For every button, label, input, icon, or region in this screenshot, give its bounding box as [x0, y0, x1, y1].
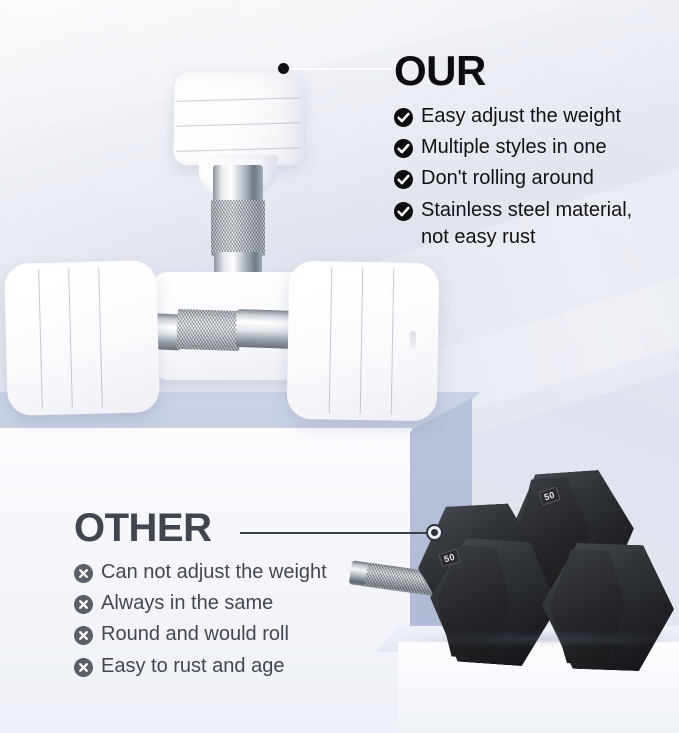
other-heading: OTHER [74, 508, 394, 548]
cross-circle-icon [74, 658, 93, 677]
other-feature-item: Can not adjust the weight [74, 559, 394, 586]
our-feature-list: Easy adjust the weight Multiple styles i… [394, 103, 674, 251]
check-circle-icon [394, 108, 413, 127]
our-feature-item: Multiple styles in one [394, 134, 674, 161]
our-feature-text: Stainless steel material, [421, 197, 632, 224]
our-feature-item: Easy adjust the weight [394, 103, 674, 130]
other-feature-text: Easy to rust and age [101, 653, 284, 680]
check-circle-icon [394, 170, 413, 189]
other-feature-list: Can not adjust the weight Always in the … [74, 559, 394, 680]
infographic-canvas: 50 50 OUR Easy adjust the [0, 0, 679, 733]
our-feature-text: Easy adjust the weight [421, 103, 621, 130]
other-callout-dot [428, 526, 441, 539]
our-heading: OUR [394, 50, 674, 92]
our-feature-text: Multiple styles in one [421, 134, 607, 161]
check-circle-icon [394, 139, 413, 158]
our-feature-item: Don't rolling around [394, 165, 674, 192]
our-callout-line [290, 68, 392, 70]
other-features-panel: OTHER Can not adjust the weight Always i… [74, 508, 394, 684]
dumbbell-contact-shadow [395, 630, 679, 648]
other-feature-item: Always in the same [74, 590, 394, 617]
other-feature-text: Always in the same [101, 590, 273, 617]
cross-circle-icon [74, 626, 93, 645]
other-feature-text: Can not adjust the weight [101, 559, 327, 586]
other-feature-text: Round and would roll [101, 621, 289, 648]
our-features-panel: OUR Easy adjust the weight Multiple styl… [394, 50, 674, 255]
our-feature-item: Stainless steel material, not easy rust [394, 197, 674, 251]
our-feature-text: Don't rolling around [421, 165, 594, 192]
other-feature-item: Easy to rust and age [74, 653, 394, 680]
check-circle-icon [394, 202, 413, 221]
other-feature-item: Round and would roll [74, 621, 394, 648]
cross-circle-icon [74, 595, 93, 614]
cross-circle-icon [74, 564, 93, 583]
our-feature-text-continued: not easy rust [421, 224, 632, 251]
our-callout-dot [278, 63, 289, 74]
